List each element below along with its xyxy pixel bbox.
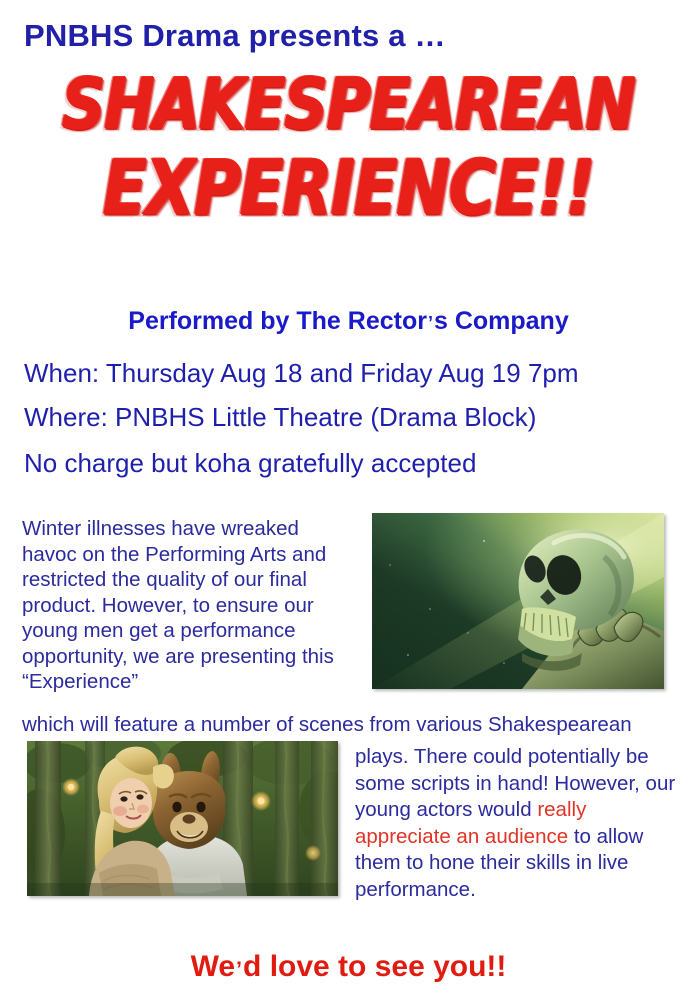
detail-charge: No charge but koha gratefully accepted — [24, 448, 476, 479]
body-right-part-1: plays. There could potentially be some s… — [355, 745, 675, 821]
performed-by-apostrophe: ’ — [427, 313, 434, 333]
skull-image — [372, 513, 664, 689]
skull-illustration — [372, 513, 664, 689]
show-title-block: Shakespearean Experience!! — [0, 72, 697, 215]
beast-illustration — [27, 741, 338, 896]
closing-prefix: We — [191, 950, 235, 983]
show-title-line-1: Shakespearean — [0, 72, 697, 140]
closing-suffix: d love to see you!! — [243, 950, 506, 983]
performed-by-prefix: Performed by The Rector — [128, 307, 427, 335]
beast-image — [27, 741, 338, 896]
body-paragraph-right: plays. There could potentially be some s… — [355, 744, 685, 903]
poster-page: PNBHS Drama presents a … Shakespearean E… — [0, 0, 697, 1000]
closing-apostrophe: ’ — [235, 956, 243, 981]
closing-line: We’d love to see you!! — [0, 950, 697, 984]
detail-where: Where: PNBHS Little Theatre (Drama Block… — [24, 402, 536, 433]
body-paragraph-full-width: which will feature a number of scenes fr… — [22, 712, 694, 738]
detail-when: When: Thursday Aug 18 and Friday Aug 19 … — [24, 358, 579, 389]
performed-by-suffix: s Company — [434, 307, 569, 335]
body-paragraph-left: Winter illnesses have wreaked havoc on t… — [22, 516, 356, 695]
show-title-line-2: Experience!! — [0, 154, 697, 226]
performed-by-line: Performed by The Rector’s Company — [0, 307, 697, 336]
page-title: PNBHS Drama presents a … — [24, 18, 446, 54]
